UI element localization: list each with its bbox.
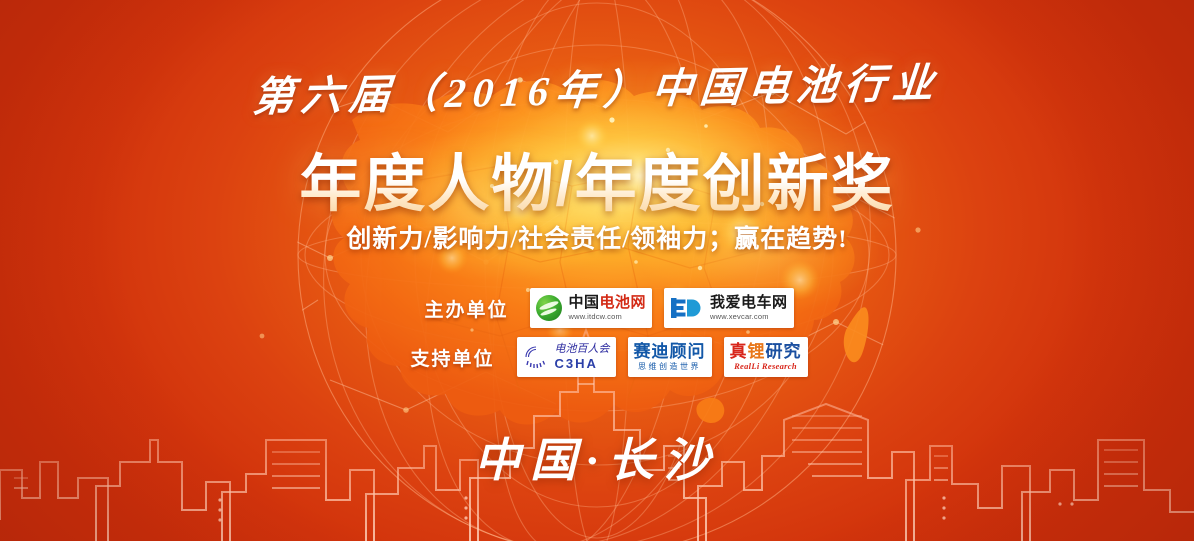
reali-name-2: 锂 (748, 342, 766, 361)
logo-reali[interactable]: 真锂研究 RealLi Research (724, 337, 808, 377)
host-label: 主办单位 (400, 295, 508, 322)
reali-name-1: 真 (730, 342, 748, 361)
xevcar-url: www.xevcar.com (710, 313, 788, 321)
host-sponsor-row: 主办单位 中国电池网 www.itdcw.com (0, 288, 1194, 328)
saidi-tagline: 思维创造世界 (638, 363, 701, 371)
xevcar-name: 我爱电车网 (710, 295, 788, 310)
saidi-name: 赛迪顾问 (634, 343, 706, 360)
logo-xevcar[interactable]: 我爱电车网 www.xevcar.com (664, 288, 794, 328)
reali-tagline: RealLi Research (734, 362, 797, 371)
promo-banner: 第六届（2016年）中国电池行业 年度人物/年度创新奖 创新力/影响力/社会责任… (0, 0, 1194, 541)
support-label: 支持单位 (387, 344, 495, 371)
cbha-script-name: 电池百人会 (555, 344, 610, 355)
logo-itdcw[interactable]: 中国电池网 www.itdcw.com (530, 288, 652, 328)
page-title: 年度人物/年度创新奖 (0, 133, 1194, 223)
green-globe-icon (536, 295, 562, 321)
event-location: 中国·长沙 (0, 424, 1194, 490)
itdcw-name-part2: 电池网 (599, 294, 646, 311)
itdcw-url: www.itdcw.com (568, 313, 646, 321)
cbha-arc-icon (523, 344, 549, 370)
cbha-abbr: C3HA (555, 357, 610, 370)
reali-name-3: 研究 (766, 342, 802, 361)
event-headline: 第六届（2016年）中国电池行业 (0, 44, 1194, 129)
itdcw-name-part1: 中国 (568, 294, 599, 311)
support-sponsor-row: 支持单位 (0, 337, 1194, 377)
logo-saidi[interactable]: 赛迪顾问 思维创造世界 (628, 337, 712, 377)
logo-cbha[interactable]: 电池百人会 C3HA (517, 337, 616, 377)
ed-plug-icon (670, 296, 704, 320)
event-subtitle: 创新力/影响力/社会责任/领袖力；赢在趋势! (0, 219, 1194, 255)
